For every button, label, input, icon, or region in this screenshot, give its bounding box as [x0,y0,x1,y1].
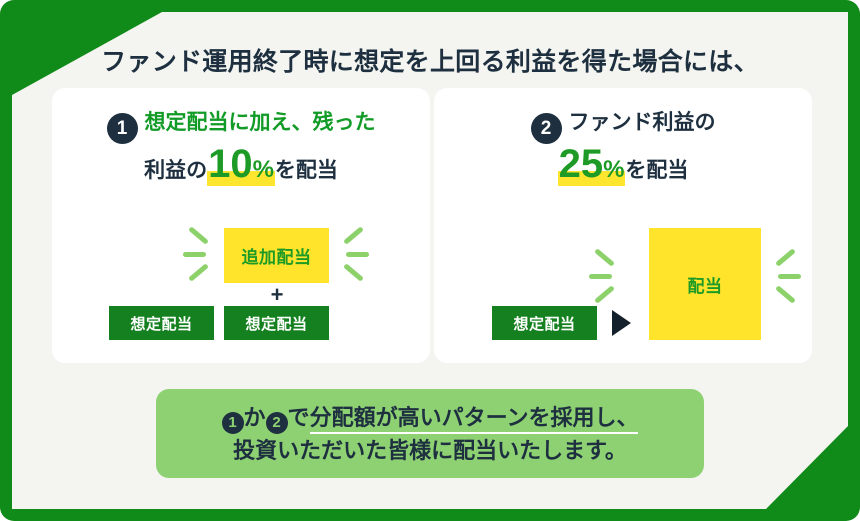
summary-underlined-text: 分配額が高いパターンを採用し、 [310,405,639,434]
card-2-dividend-box: 配当 [649,228,761,340]
card-2-diagram: 想定配当 配当 [434,88,812,363]
summary-pattern-1-number: 1 [222,412,244,434]
card-1-sparkle-right [336,231,370,277]
summary-conjunction: か [244,405,266,430]
summary-pattern-2-number: 2 [266,412,288,434]
card-1-plus-sign: + [269,284,285,306]
summary-particle: で [288,405,310,430]
infographic-frame: ファンド運用終了時に想定を上回る利益を得た場合には、 1想定配当に加え、残った … [0,0,860,521]
card-2-arrow-icon [612,310,631,336]
summary-banner-line-1: 1か2で分配額が高いパターンを採用し、 [156,401,704,434]
page-title: ファンド運用終了時に想定を上回る利益を得た場合には、 [0,42,860,78]
card-2-expected-dividend-box: 想定配当 [492,306,597,340]
summary-banner: 1か2で分配額が高いパターンを採用し、 投資いただいた皆様に配当いたします。 [156,389,704,478]
summary-banner-line-2: 投資いただいた皆様に配当いたします。 [156,434,704,467]
card-1-expected-dividend-box: 想定配当 [109,306,214,340]
card-2-sparkle-left [589,253,623,299]
card-1-additional-dividend-box: 追加配当 [224,228,329,283]
pattern-card-1: 1想定配当に加え、残った 利益の10%を配当 想定配当 追加配当 + [52,88,430,363]
card-1-sparkle-left [183,231,217,277]
card-1-diagram: 想定配当 追加配当 + 想定配当 [52,88,430,363]
card-2-sparkle-right [768,253,802,299]
pattern-card-2: 2ファンド利益の 25%を配当 想定配当 配当 [434,88,812,363]
card-1-expected-dividend-box-after: 想定配当 [224,306,329,340]
